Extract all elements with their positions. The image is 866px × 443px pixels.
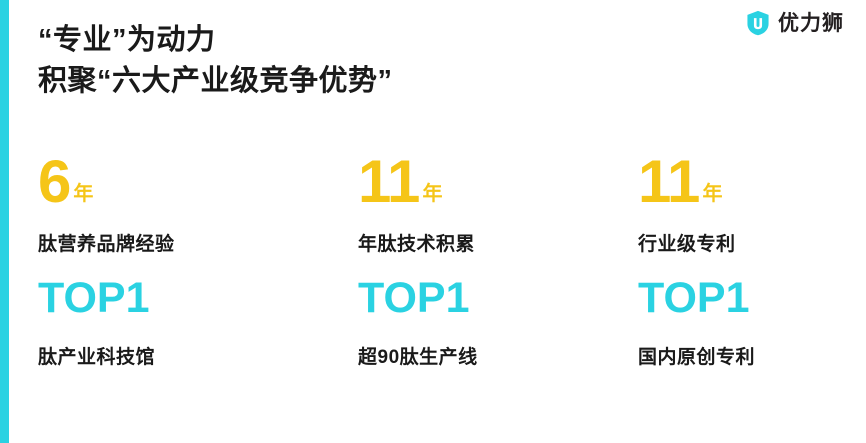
stat-number: 11 <box>638 152 699 212</box>
stat-label: 肽营养品牌经验 <box>38 229 358 256</box>
top-item: TOP1 超90肽生产线 <box>358 277 638 369</box>
stat-item: 11 年 年肽技术积累 <box>358 152 638 277</box>
stat-unit: 年 <box>73 184 93 204</box>
u-shield-icon <box>745 10 771 36</box>
top-item: TOP1 国内原创专利 <box>638 277 828 369</box>
stat-unit: 年 <box>422 184 442 204</box>
left-accent-bar <box>0 0 9 443</box>
top-number: TOP1 <box>638 277 828 320</box>
stat-label: 行业级专利 <box>638 229 828 256</box>
stat-number-group: 11 年 <box>358 152 638 212</box>
stat-number: 6 <box>38 152 70 212</box>
slide-root: 优力狮 “专业”为动力 积聚“六大产业级竞争优势” 6 年 肽营养品牌经验 11… <box>0 0 866 443</box>
stat-number: 11 <box>358 152 419 212</box>
headline-line-2: 积聚“六大产业级竞争优势” <box>38 61 638 102</box>
page-title: “专业”为动力 积聚“六大产业级竞争优势” <box>38 20 638 102</box>
top-label: 肽产业科技馆 <box>38 342 358 369</box>
brand-logo-text: 优力狮 <box>778 13 844 34</box>
top-item: TOP1 肽产业科技馆 <box>38 277 358 369</box>
stats-grid: 6 年 肽营养品牌经验 11 年 年肽技术积累 11 年 行业级专利 TOP1 … <box>38 152 828 369</box>
stat-unit: 年 <box>702 184 722 204</box>
top-label: 国内原创专利 <box>638 342 828 369</box>
brand-logo: 优力狮 <box>745 10 844 36</box>
top-label: 超90肽生产线 <box>358 342 638 369</box>
stat-item: 11 年 行业级专利 <box>638 152 828 277</box>
stat-label: 年肽技术积累 <box>358 229 638 256</box>
headline-line-1: “专业”为动力 <box>38 20 638 61</box>
stat-number-group: 11 年 <box>638 152 828 212</box>
top-number: TOP1 <box>358 277 638 320</box>
stat-item: 6 年 肽营养品牌经验 <box>38 152 358 277</box>
stat-number-group: 6 年 <box>38 152 358 212</box>
top-number: TOP1 <box>38 277 358 320</box>
